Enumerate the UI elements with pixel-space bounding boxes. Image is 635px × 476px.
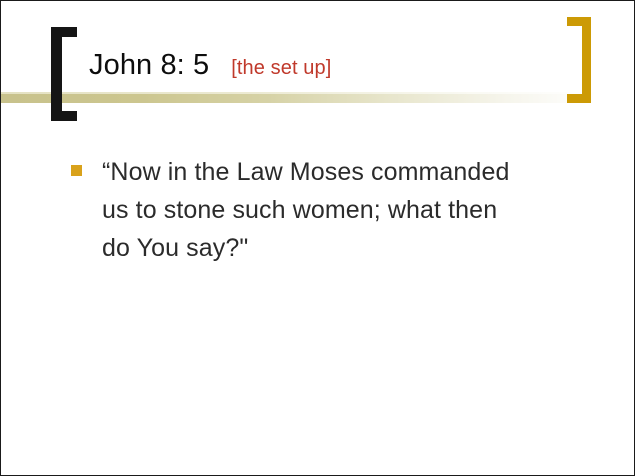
bullet-square-icon xyxy=(71,165,82,176)
slide-body: “Now in the Law Moses commanded us to st… xyxy=(71,153,591,267)
left-bracket-icon xyxy=(51,27,77,121)
title-main-text: John 8: 5 xyxy=(89,49,209,82)
page-title: John 8: 5 [the set up] xyxy=(89,49,331,82)
title-divider-highlight xyxy=(1,92,634,94)
presentation-slide: John 8: 5 [the set up] “Now in the Law M… xyxy=(0,0,635,476)
slide-title-band: John 8: 5 [the set up] xyxy=(1,1,635,131)
body-line: “Now in the Law Moses commanded xyxy=(102,153,509,191)
body-paragraph: “Now in the Law Moses commanded us to st… xyxy=(102,153,509,267)
body-line: us to stone such women; what then xyxy=(102,191,509,229)
right-bracket-icon xyxy=(567,17,591,103)
body-line: do You say?" xyxy=(102,229,509,267)
title-subtitle-text: [the set up] xyxy=(231,57,331,80)
